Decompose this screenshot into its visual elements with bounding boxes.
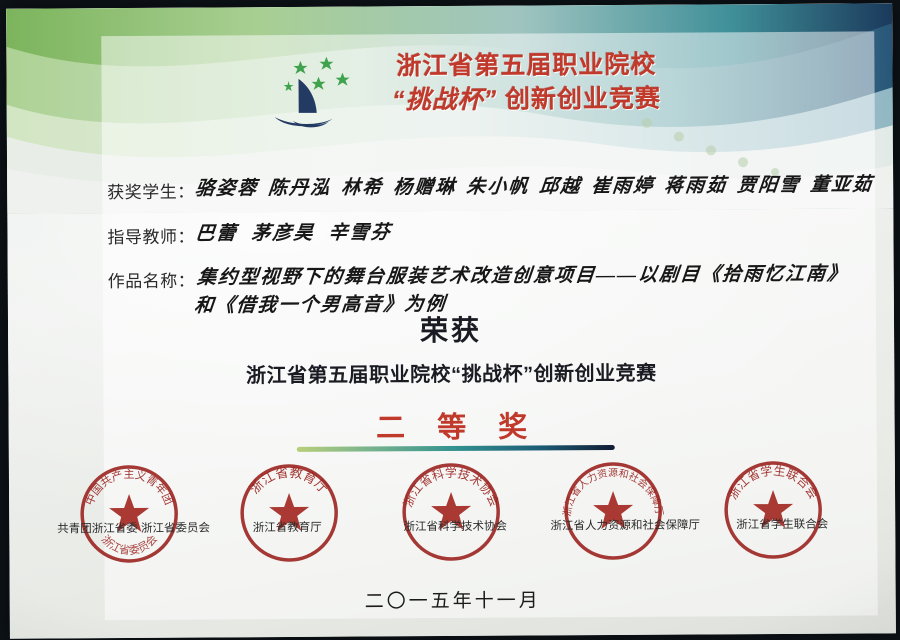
work-title-line-1: 集约型视野下的舞台服装艺术改造创意项目——以剧目《拾雨忆江南》 [195,261,849,293]
gradient-divider [297,445,615,452]
certificate-document: 浙江省第五届职业院校 “挑战杯” 创新创业竞赛 获奖学生： 骆姿蓉陈丹泓林希杨赠… [6,3,896,638]
student-name: 蒋雨茹 [663,175,728,196]
student-name: 崔雨婷 [590,176,655,197]
award-heading: 荣获 [8,306,894,351]
title-line-1: 浙江省第五届职业院校 [336,50,716,82]
teacher-name: 茅彦昊 [250,222,315,243]
student-name: 贾阳雪 [736,175,801,196]
student-name: 骆姿蓉 [194,178,259,199]
certificate-title: 浙江省第五届职业院校 “挑战杯” 创新创业竞赛 [336,50,716,115]
teachers-value: 巴蕾茅彦昊辛雪芬 [194,219,407,248]
title-line-2: “挑战杯” 创新创业竞赛 [337,84,717,116]
organization-name: 浙江省教育厅 [217,519,357,536]
student-name: 杨赠琳 [392,177,457,198]
teacher-name: 辛雪芬 [327,222,392,243]
organization-name: 共青团浙江省委 浙江省委员会 [57,520,197,537]
student-name: 林希 [340,177,384,198]
seal-zhejiang-human-resources-social-security: 浙江省人力资源和社会保障厅 [555,457,672,570]
student-name: 董亚茹 [809,174,874,195]
award-level: 二 等 奖 [9,401,895,448]
svg-text:浙江省教育厅: 浙江省教育厅 [247,464,330,497]
seal-zhejiang-science-technology-association: 浙江省科学技术协会 [393,458,510,571]
seal-zhejiang-students-federation: 浙江省学生联合会 [715,456,832,569]
award-contest-name: 浙江省第五届职业院校“挑战杯”创新创业竞赛 [8,355,894,389]
teacher-name: 巴蕾 [194,223,238,244]
organization-name: 浙江省科学技术协会 [371,517,539,534]
photo-frame: 浙江省第五届职业院校 “挑战杯” 创新创业竞赛 获奖学生： 骆姿蓉陈丹泓林希杨赠… [0,0,900,640]
students-row: 获奖学生： 骆姿蓉陈丹泓林希杨赠琳朱小帆邱越崔雨婷蒋雨茹贾阳雪董亚茹 [107,171,887,203]
seal-zhejiang-education-department: 浙江省教育厅 [231,459,348,572]
student-name: 邱越 [538,176,582,197]
title-line-2-rest: 创新创业竞赛 [497,84,661,113]
seal-communist-youth-league: 中国共产主义青年团 浙江省委员会 [71,460,188,573]
students-value: 骆姿蓉陈丹泓林希杨赠琳朱小帆邱越崔雨婷蒋雨茹贾阳雪董亚茹 [193,171,884,203]
students-label: 获奖学生： [107,176,195,204]
issue-date: 二〇一五年十一月 [10,583,896,615]
teachers-label: 指导教师： [107,220,195,248]
student-name: 朱小帆 [465,177,530,198]
organization-name: 浙江省人力资源和社会保障厅 [533,516,717,533]
cup-name: “挑战杯” [392,85,497,114]
work-title-label: 作品名称： [108,265,196,293]
teachers-row: 指导教师： 巴蕾茅彦昊辛雪芬 [107,216,887,248]
student-name: 陈丹泓 [267,178,332,199]
organization-name: 浙江省学生联合会 [707,516,857,533]
